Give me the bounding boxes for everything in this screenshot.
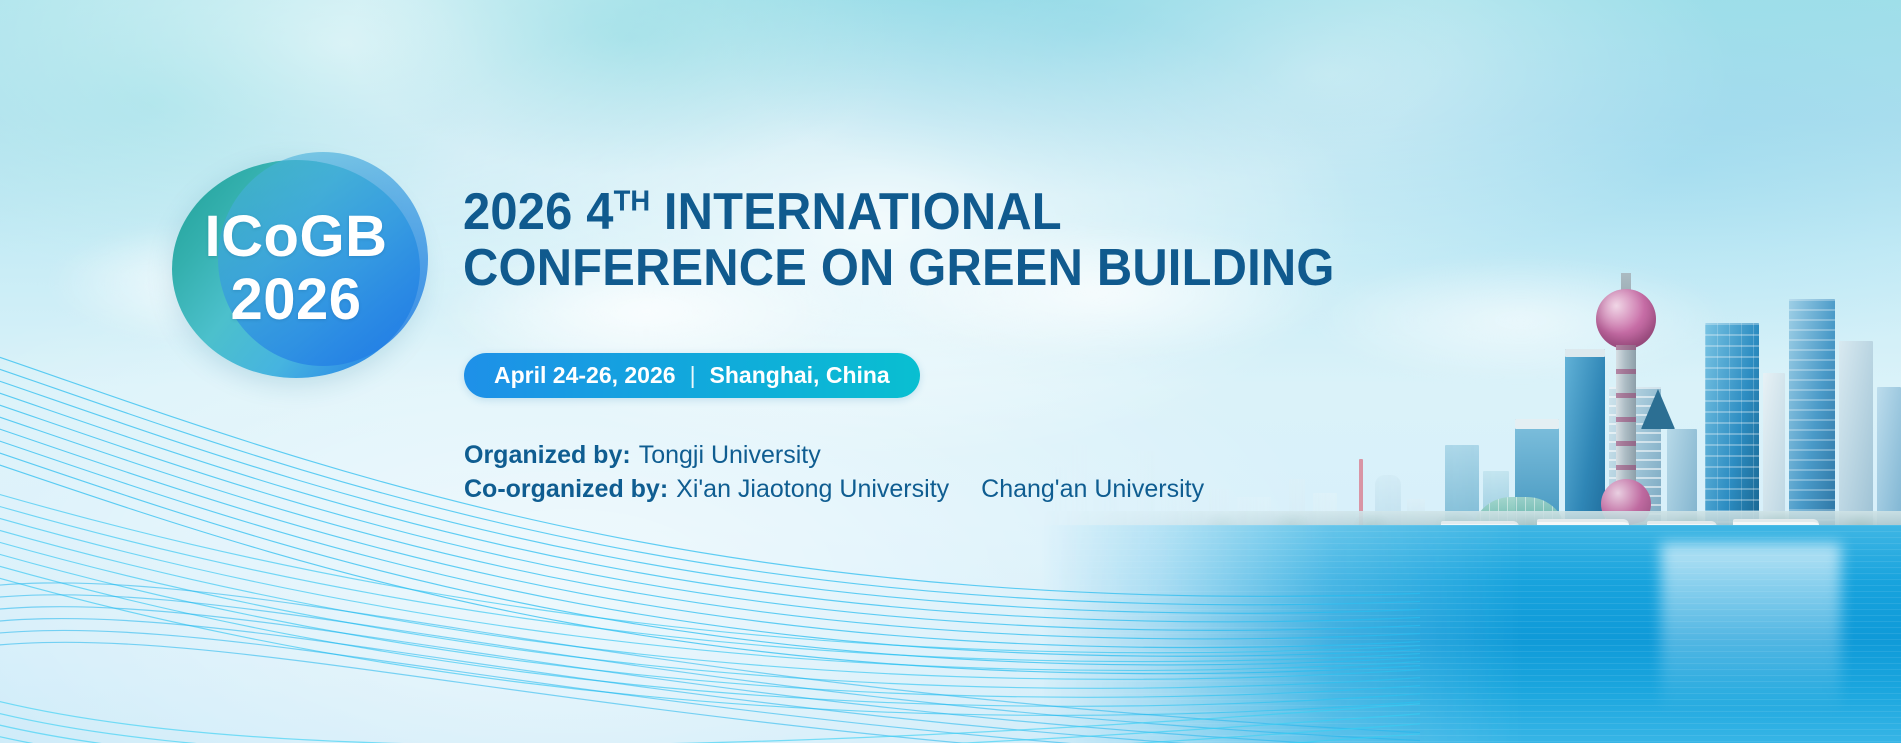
conference-location: Shanghai, China (710, 362, 890, 389)
co-organized-by-row: Co-organized by:Xi'an Jiaotong Universit… (464, 472, 1204, 506)
ordinal-suffix: TH (614, 186, 650, 218)
page-title: 2026 4TH INTERNATIONAL CONFERENCE ON GRE… (463, 185, 1335, 296)
date-location-badge: April 24-26, 2026 | Shanghai, China (464, 353, 920, 398)
conference-dates: April 24-26, 2026 (494, 362, 676, 389)
title-line-2: CONFERENCE ON GREEN BUILDING (463, 241, 1335, 297)
organized-by-value: Tongji University (639, 441, 821, 469)
co-organizer-1: Xi'an Jiaotong University (676, 475, 949, 503)
logo-acronym: ICoGB (205, 209, 388, 266)
organized-by-label: Organized by: (464, 441, 631, 469)
pill-separator: | (690, 362, 696, 389)
organizers-block: Organized by:Tongji University Co-organi… (464, 438, 1204, 506)
title-line-1: 2026 4TH INTERNATIONAL (463, 185, 1335, 241)
title-line-1-post: INTERNATIONAL (650, 183, 1062, 241)
organized-by-row: Organized by:Tongji University (464, 438, 1204, 472)
conference-banner: ICoGB 2026 2026 4TH INTERNATIONAL CONFER… (0, 0, 1901, 743)
title-line-1-pre: 2026 4 (463, 183, 614, 241)
co-organizer-2: Chang'an University (981, 475, 1204, 503)
co-organized-by-label: Co-organized by: (464, 475, 668, 503)
logo-year: 2026 (230, 272, 361, 329)
logo-text: ICoGB 2026 (172, 160, 420, 378)
conference-logo-badge: ICoGB 2026 (172, 160, 420, 378)
